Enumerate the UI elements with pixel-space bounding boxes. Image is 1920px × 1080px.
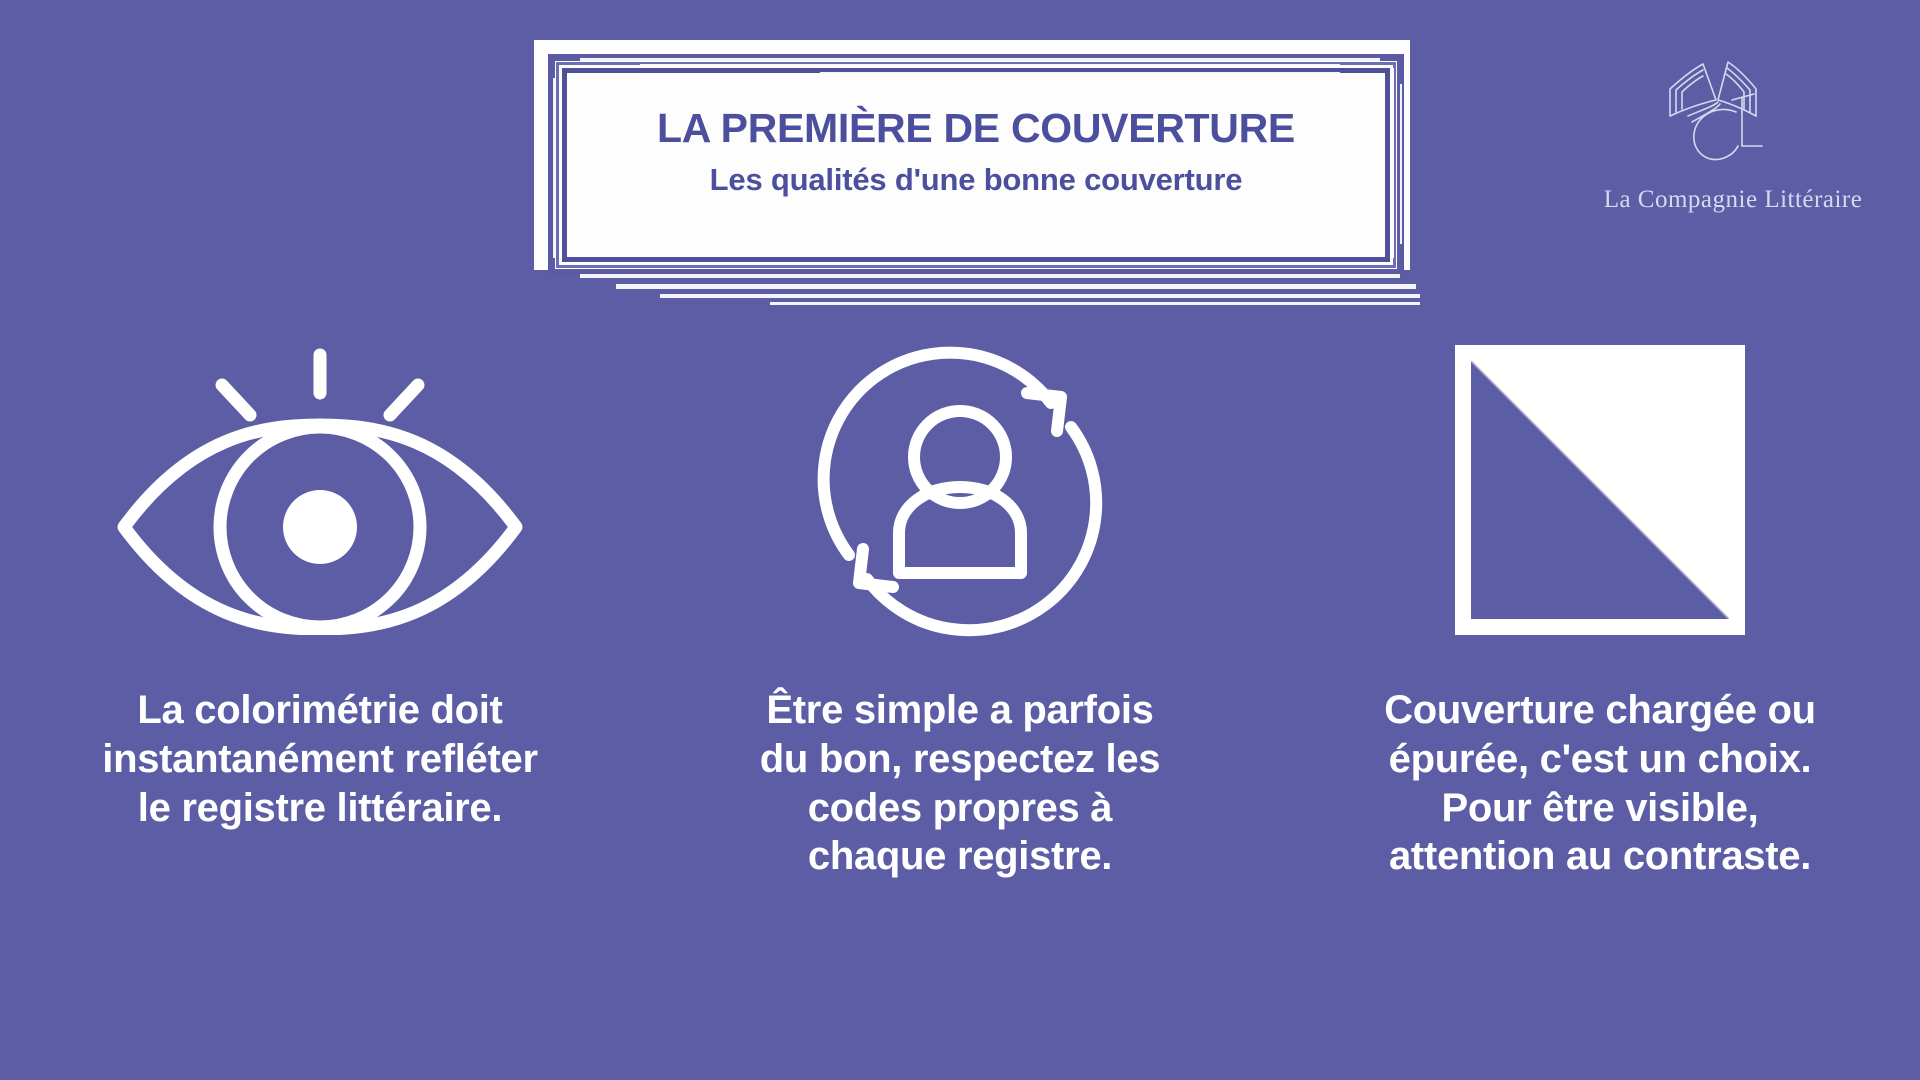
title-plaque-frame: LA PREMIÈRE DE COUVERTURE Les qualités d… xyxy=(520,28,1440,303)
brand-logo: La Compagnie Littéraire xyxy=(1598,54,1868,234)
brush-streak-right-2 xyxy=(1400,84,1402,244)
feature-column-colorimetrie: La colorimétrie doit instantanément refl… xyxy=(0,340,640,881)
person-cycle-icon-container xyxy=(805,340,1115,640)
person-cycle-icon xyxy=(805,335,1115,645)
eye-icon xyxy=(110,345,530,635)
title-text-group: LA PREMIÈRE DE COUVERTURE Les qualités d… xyxy=(572,106,1380,198)
brush-streak-top-4 xyxy=(1080,52,1380,54)
eye-pupil xyxy=(283,490,357,564)
feature-column-simplicite: Être simple a parfois du bon, respectez … xyxy=(640,340,1280,881)
brush-streak-top-2 xyxy=(640,64,1340,66)
brush-streak-bottom-1 xyxy=(580,274,1400,278)
brush-streak-bottom-2 xyxy=(616,284,1416,289)
page-title: LA PREMIÈRE DE COUVERTURE xyxy=(572,106,1380,152)
brush-streak-left-2 xyxy=(544,98,547,248)
brush-streak-bottom-4 xyxy=(770,302,1420,305)
feature-column-contraste: Couverture chargée ou épurée, c'est un c… xyxy=(1280,340,1920,881)
contrast-square-icon-container xyxy=(1455,340,1745,640)
eye-icon-container xyxy=(110,340,530,640)
brush-streak-top-3 xyxy=(820,72,1340,74)
header-banner: LA PREMIÈRE DE COUVERTURE Les qualités d… xyxy=(520,28,1440,303)
brush-streak-right-1 xyxy=(1392,68,1394,258)
contrast-square-icon xyxy=(1455,345,1745,635)
open-book-monogram-icon xyxy=(1658,54,1808,184)
feature-caption: Être simple a parfois du bon, respectez … xyxy=(725,686,1195,881)
brush-streak-bottom-3 xyxy=(660,294,1420,298)
brush-streak-left-1 xyxy=(553,78,555,258)
feature-caption: Couverture chargée ou épurée, c'est un c… xyxy=(1320,686,1880,881)
feature-columns: La colorimétrie doit instantanément refl… xyxy=(0,340,1920,881)
feature-caption: La colorimétrie doit instantanément refl… xyxy=(55,686,585,832)
brush-streak-top-1 xyxy=(580,58,1380,61)
brand-name: La Compagnie Littéraire xyxy=(1598,186,1868,214)
page-subtitle: Les qualités d'une bonne couverture xyxy=(572,162,1380,198)
